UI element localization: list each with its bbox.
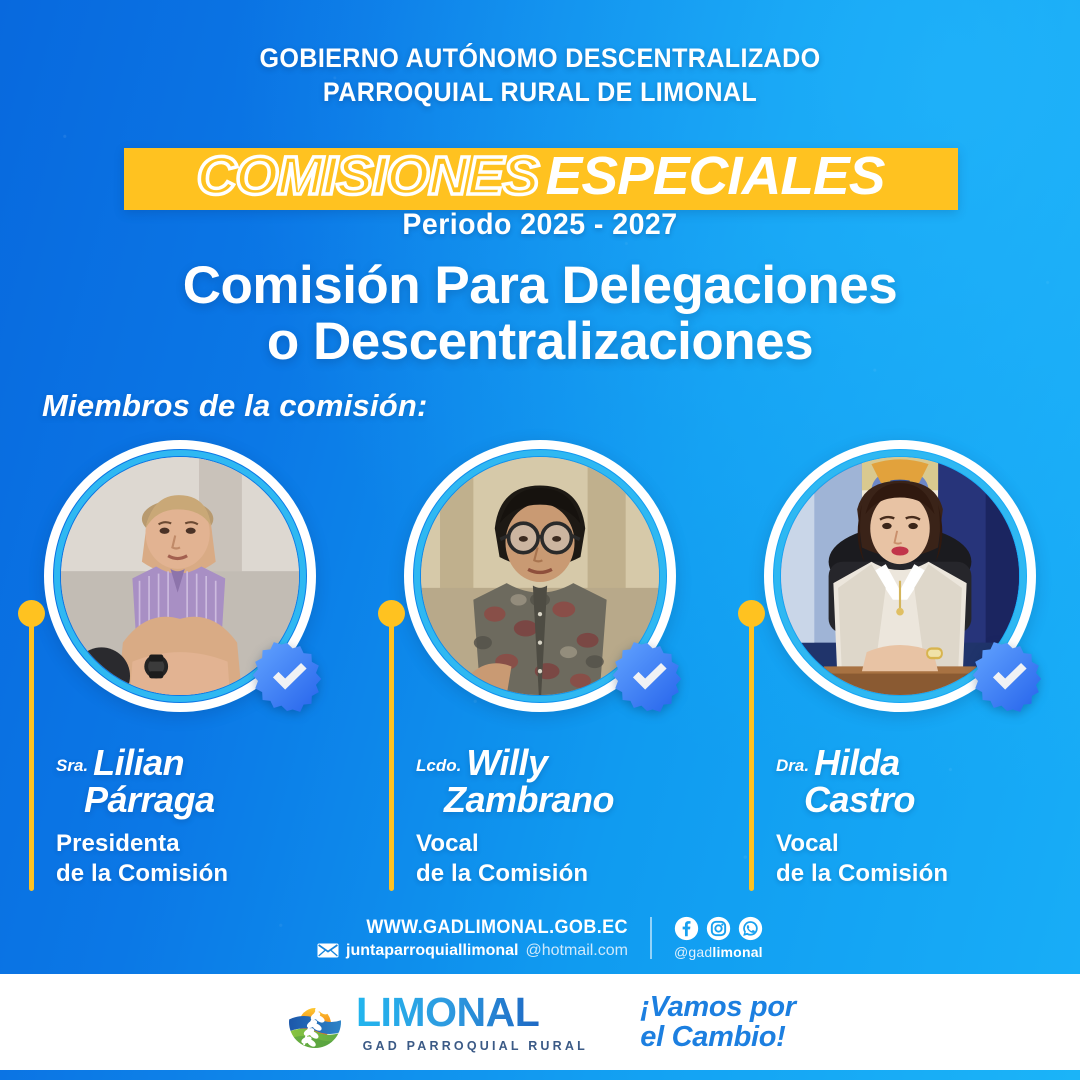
member-role-line-1: Presidenta	[56, 829, 356, 858]
pin-stem	[749, 614, 754, 891]
commission-title: Comisión Para Delegaciones o Descentrali…	[0, 258, 1080, 370]
bottom-accent-strip	[0, 1070, 1080, 1080]
whatsapp-icon[interactable]	[738, 916, 763, 941]
limonal-subtitle: GAD PARROQUIAL RURAL	[356, 1040, 594, 1053]
instagram-icon[interactable]	[706, 916, 731, 941]
member-first-name: Hilda	[814, 742, 900, 783]
svg-text:LIMONAL: LIMONAL	[356, 991, 539, 1035]
email-domain: @hotmail.com	[525, 942, 628, 960]
member-card: Sra.Lilian Párraga Presidenta de la Comi…	[0, 440, 360, 900]
social-handle-bold: limonal	[712, 944, 762, 960]
limonal-wordmark: LIMONAL GAD PARROQUIAL RURAL	[356, 991, 594, 1053]
social-handle-prefix: @gad	[674, 944, 712, 960]
member-role-line-2: de la Comisión	[776, 859, 1076, 888]
limonal-emblem-icon	[284, 991, 346, 1053]
members-label: Miembros de la comisión:	[42, 388, 428, 424]
member-name-block: Lcdo.Willy Zambrano Vocal de la Comisión	[416, 745, 716, 888]
member-last-name: Castro	[776, 782, 1076, 819]
member-card: Lcdo.Willy Zambrano Vocal de la Comisión	[360, 440, 720, 900]
member-photo-frame	[404, 440, 676, 712]
slogan-line-2: el Cambio!	[640, 1022, 795, 1052]
email-row[interactable]: juntaparroquiallimonal@hotmail.com	[317, 942, 628, 960]
org-header-line-2: PARROQUIAL RURAL DE LIMONAL	[38, 76, 1042, 110]
member-last-name: Zambrano	[416, 782, 716, 819]
member-photo-frame	[764, 440, 1036, 712]
members-list: Sra.Lilian Párraga Presidenta de la Comi…	[0, 440, 1080, 900]
member-name-line-1: Dra.Hilda	[776, 745, 1076, 782]
member-role: Vocal de la Comisión	[416, 829, 716, 888]
commissions-banner: COMISIONES ESPECIALES	[124, 148, 958, 210]
member-honorific: Dra.	[776, 756, 809, 775]
member-honorific: Lcdo.	[416, 756, 461, 775]
limonal-logo: LIMONAL GAD PARROQUIAL RURAL	[284, 991, 594, 1053]
member-name-line-1: Lcdo.Willy	[416, 745, 716, 782]
member-role-line-1: Vocal	[776, 829, 1076, 858]
contact-divider	[650, 917, 652, 959]
organization-header: GOBIERNO AUTÓNOMO DESCENTRALIZADO PARROQ…	[0, 42, 1080, 110]
member-name-block: Dra.Hilda Castro Vocal de la Comisión	[776, 745, 1076, 888]
poster-canvas: GOBIERNO AUTÓNOMO DESCENTRALIZADO PARROQ…	[0, 0, 1080, 974]
envelope-icon	[317, 943, 339, 958]
social-handle: @gadlimonal	[674, 944, 763, 960]
commission-title-line-2: o Descentralizaciones	[0, 314, 1080, 370]
slogan-line-1: ¡Vamos por	[640, 992, 795, 1022]
campaign-slogan: ¡Vamos por el Cambio!	[640, 992, 795, 1052]
member-honorific: Sra.	[56, 756, 88, 775]
verified-badge-icon	[970, 640, 1044, 714]
member-card: Dra.Hilda Castro Vocal de la Comisión	[720, 440, 1080, 900]
member-name-line-1: Sra.Lilian	[56, 745, 356, 782]
member-role: Presidenta de la Comisión	[56, 829, 356, 888]
commission-title-line-1: Comisión Para Delegaciones	[0, 258, 1080, 314]
social-icons-group[interactable]	[674, 916, 763, 941]
facebook-icon[interactable]	[674, 916, 699, 941]
org-header-line-1: GOBIERNO AUTÓNOMO DESCENTRALIZADO	[38, 42, 1042, 76]
contact-strip: WWW.GADLIMONAL.GOB.EC juntaparroquiallim…	[0, 916, 1080, 960]
period-label: Periodo 2025 - 2027	[27, 208, 1053, 242]
member-role-line-1: Vocal	[416, 829, 716, 858]
limonal-word: LIMONAL	[356, 991, 594, 1035]
member-first-name: Lilian	[93, 742, 184, 783]
member-first-name: Willy	[466, 742, 547, 783]
member-role: Vocal de la Comisión	[776, 829, 1076, 888]
contact-left-group: WWW.GADLIMONAL.GOB.EC juntaparroquiallim…	[317, 917, 628, 960]
pin-stem	[29, 614, 34, 891]
member-name-block: Sra.Lilian Párraga Presidenta de la Comi…	[56, 745, 356, 888]
verified-badge-icon	[610, 640, 684, 714]
member-last-name: Párraga	[56, 782, 356, 819]
banner-word-comisiones: COMISIONES	[197, 145, 539, 207]
contact-right-group: @gadlimonal	[674, 916, 763, 960]
commissions-banner-text: COMISIONES ESPECIALES	[124, 148, 958, 210]
member-role-line-2: de la Comisión	[56, 859, 356, 888]
email-user: juntaparroquiallimonal	[346, 942, 518, 960]
verified-badge-icon	[250, 640, 324, 714]
website-url[interactable]: WWW.GADLIMONAL.GOB.EC	[333, 917, 628, 939]
member-role-line-2: de la Comisión	[416, 859, 716, 888]
banner-word-especiales: ESPECIALES	[546, 145, 885, 207]
footer-bar: LIMONAL GAD PARROQUIAL RURAL ¡Vamos por …	[0, 974, 1080, 1070]
pin-stem	[389, 614, 394, 891]
member-photo-frame	[44, 440, 316, 712]
